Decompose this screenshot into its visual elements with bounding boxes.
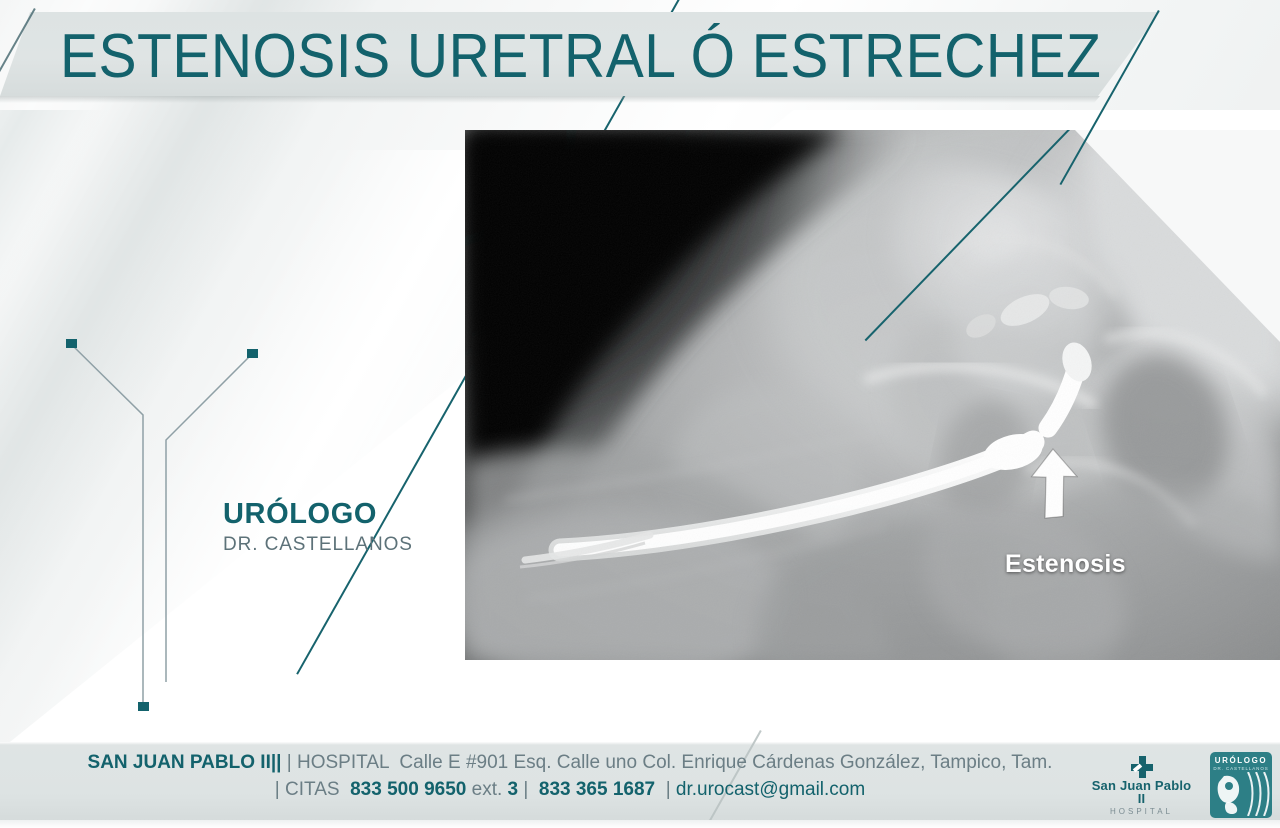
footer-phone-primary[interactable]: 833 500 9650 [350,779,466,800]
hospital-logo-name: San Juan Pablo II [1089,779,1194,805]
title-banner-shadow [0,96,1100,103]
kidney-shield-icon [1210,772,1272,816]
page-title: ESTENOSIS URETRAL Ó ESTRECHEZ [60,18,1035,94]
doctor-name: DR. CASTELLANOS [223,535,413,554]
footer-line-phones: | CITAS 833 500 9650 ext. 3 | 833 365 16… [0,777,1140,804]
footer-pipe-3: | [523,779,528,800]
footer-email[interactable]: dr.urocast@gmail.com [676,779,865,800]
footer-pipe-4: | [666,779,671,800]
footer-pipe-1: | [287,752,292,773]
footer-hospital-word: HOSPITAL [297,752,389,773]
footer-pipe-2: | [275,779,280,800]
poster-canvas: Estenosis ESTENOSIS URETRAL Ó ESTRECHEZ … [0,0,1280,828]
decorative-square-bottom [138,702,149,711]
footer-bar: SAN JUAN PABLO II|| | HOSPITAL Calle E #… [0,742,1280,828]
footer-ext-number: 3 [508,779,519,800]
footer-phone-secondary[interactable]: 833 365 1687 [539,779,655,800]
xray-image: Estenosis [465,130,1280,660]
footer-top-highlight [0,742,1280,745]
urologist-logo: URÓLOGO DR. CASTELLANOS [1210,752,1272,818]
medical-cross-icon [1131,756,1153,778]
decorative-square-top-left [66,339,77,348]
footer-contact-info: SAN JUAN PABLO II|| | HOSPITAL Calle E #… [0,750,1140,804]
urologist-logo-title: URÓLOGO [1210,757,1272,765]
footer-ext-label: ext. [472,779,503,800]
doctor-credit-block: URÓLOGO DR. CASTELLANOS [223,500,413,554]
footer-citas-label: CITAS [285,779,340,800]
footer-bars: || [271,752,282,773]
hospital-logo-subtitle: HOSPITAL [1089,808,1194,816]
footer-bottom-edge [0,820,1280,828]
xray-annotation-label: Estenosis [1005,550,1126,579]
footer-hospital-name: SAN JUAN PABLO II [88,752,271,773]
footer-line-address: SAN JUAN PABLO II|| | HOSPITAL Calle E #… [0,750,1140,777]
footer-address: Calle E #901 Esq. Calle uno Col. Enrique… [399,752,1052,773]
hospital-logo: San Juan Pablo II HOSPITAL [1089,756,1194,816]
doctor-role: URÓLOGO [223,500,413,529]
decorative-square-top-right [247,349,258,358]
